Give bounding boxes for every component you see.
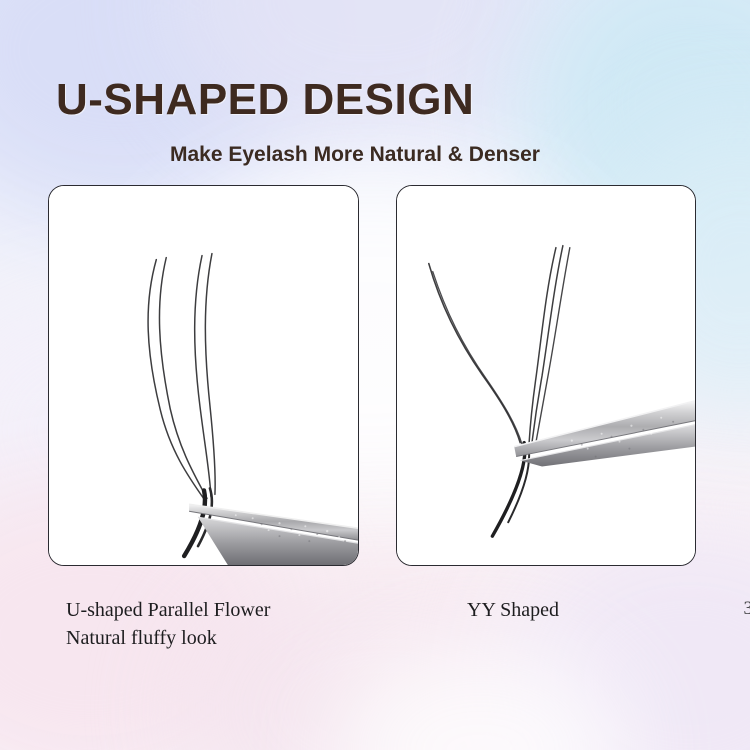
caption-line-1: U-shaped Parallel Flower — [66, 597, 270, 625]
product-card-u-shaped[interactable]: U-shaped Lashes — [48, 185, 359, 566]
caption-u-shaped: U-shaped Parallel Flower Natural fluffy … — [66, 597, 270, 652]
page-number: 3 — [744, 598, 750, 620]
yy-shaped-lash-photo — [397, 186, 695, 565]
caption-line-2: Natural fluffy look — [66, 625, 270, 653]
product-feature-slide: U-SHAPED DESIGN Make Eyelash More Natura… — [0, 0, 750, 750]
page-title: U-SHAPED DESIGN — [56, 75, 474, 125]
page-subtitle: Make Eyelash More Natural & Denser — [0, 143, 710, 167]
caption-line-1: YY Shaped — [467, 597, 559, 625]
product-card-yy-shaped[interactable]: YY Lashes — [396, 185, 696, 566]
u-shaped-lash-photo — [49, 186, 358, 565]
caption-yy-shaped: YY Shaped — [467, 597, 559, 625]
